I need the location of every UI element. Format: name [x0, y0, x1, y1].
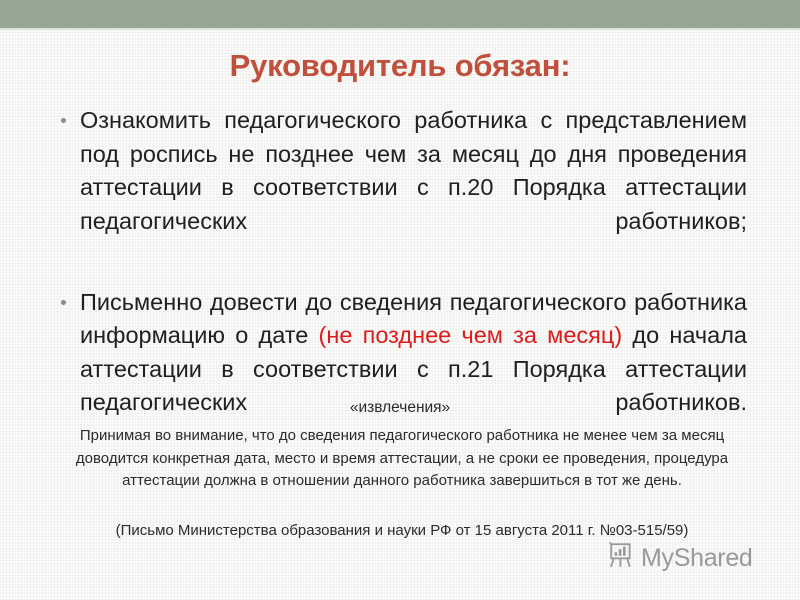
bullet-dot-icon: [61, 118, 66, 123]
list-item: Ознакомить педагогического работника с п…: [57, 104, 747, 272]
myshared-watermark: MyShared: [608, 541, 753, 574]
top-decorative-band: [0, 0, 800, 28]
extract-body-text: Принимая во внимание, что до сведения пе…: [62, 425, 742, 493]
bullet-text-2-highlight: (не позднее чем за месяц): [319, 322, 623, 348]
slide-title: Руководитель обязан:: [0, 48, 800, 84]
top-band-shadow: [0, 28, 800, 31]
source-reference: (Письмо Министерства образования и науки…: [62, 520, 742, 542]
bullet-dot-icon: [61, 300, 66, 305]
bullet-text-1: Ознакомить педагогического работника с п…: [80, 107, 747, 267]
myshared-watermark-label: MyShared: [641, 544, 753, 572]
slide-canvas: Руководитель обязан: Ознакомить педагоги…: [0, 0, 800, 600]
extract-label: «извлечения»: [0, 398, 800, 418]
flipchart-chart-icon: [608, 541, 635, 574]
